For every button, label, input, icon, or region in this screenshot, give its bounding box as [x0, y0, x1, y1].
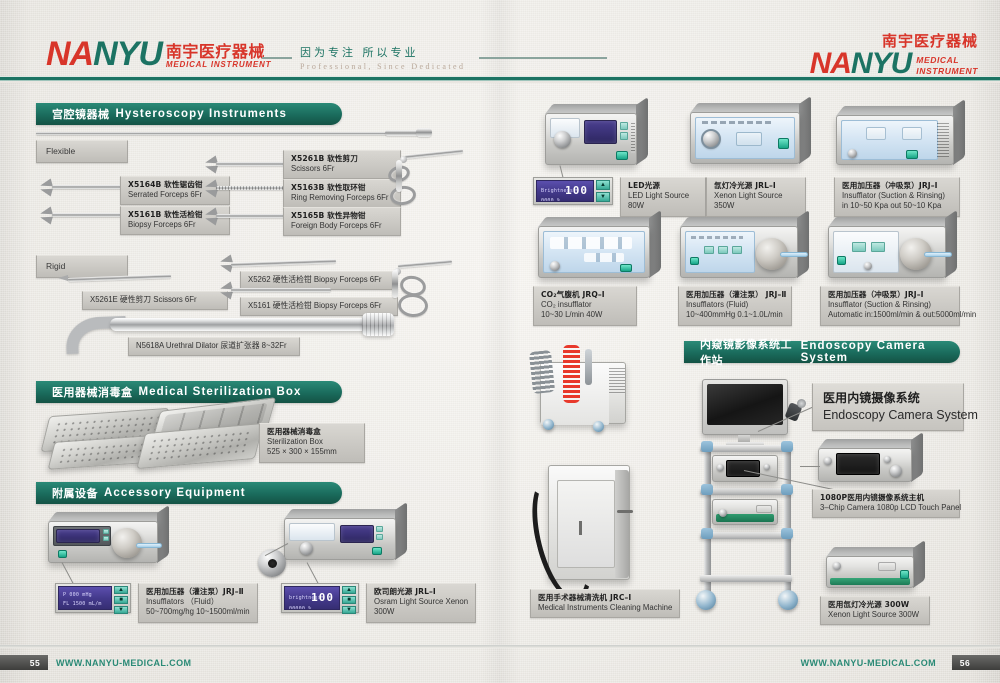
slogan-rule-left — [262, 57, 292, 59]
trolley-camera-control-unit — [712, 455, 778, 482]
display-panel-osram: brightness 100 00000 % ▲■▼ — [281, 583, 359, 613]
group-label-rigid: Rigid — [36, 255, 128, 278]
trolley-clamp-4 — [781, 484, 793, 495]
caption-ring-removing-forceps: X5163B 软性取环钳 Ring Removing Forceps 6Fr — [283, 179, 401, 208]
trolley-post-right — [784, 443, 791, 595]
device-led-light-source — [545, 113, 637, 165]
caption-xenon-light-source: 氙灯冷光源 JRL–Ⅰ Xenon Light Source 350W — [706, 177, 806, 217]
section-title-cn-2: 医用器械消毒盒 — [52, 384, 133, 400]
trolley-post-left — [704, 443, 711, 595]
brand-sub-right: MEDICAL INSTRUMENT — [916, 55, 978, 78]
footer-bar-left — [0, 655, 22, 670]
coil-hose-gray — [529, 350, 555, 394]
caption-scissors-flex: X5261B 软性剪刀 Scissors 6Fr — [283, 150, 401, 179]
trolley-light-source — [712, 499, 778, 525]
device-xenon-300w — [826, 556, 914, 588]
flexible-scope-connector — [416, 128, 432, 137]
page-number-right: 56 — [952, 655, 978, 670]
device-osram-light-source — [284, 518, 396, 560]
trolley-caster-right — [778, 590, 798, 610]
section-title-cn: 宫腔镜器械 — [52, 106, 110, 122]
device-insufflator-fluid — [48, 521, 158, 563]
page-number-left: 55 — [22, 655, 48, 670]
brand-logo-right: 南宇医疗器械 NANYU MEDICAL INSTRUMENT — [810, 34, 978, 78]
page-header: NANYU 南宇医疗器械 MEDICAL INSTRUMENT 因为专注 所以专… — [0, 0, 1000, 82]
slogan-rule-right — [479, 57, 607, 59]
footer-bar-right — [978, 655, 1000, 670]
caption-camera-ccu: 1080P医用内镜摄像系统主机 3–Chip Camera 1080p LCD … — [812, 489, 960, 518]
caption-xenon-300w: 医用氙灯冷光源 300W Xenon Light Source 300W — [820, 596, 930, 625]
section-header-sterilization: 医用器械消毒盒 Medical Sterilization Box — [36, 381, 342, 403]
brand-name-en: MEDICAL INSTRUMENT — [166, 60, 271, 69]
lcd-osram: brightness 100 00000 % — [284, 586, 340, 610]
endoscopy-trolley — [698, 385, 818, 615]
dilator-hub — [362, 313, 394, 336]
flexible-scope-shaft — [36, 132, 388, 135]
section-title-en-4: Endoscopy Camera System — [801, 340, 946, 364]
trolley-shelf-2 — [700, 488, 792, 495]
section-title-en-2: Medical Sterilization Box — [139, 386, 302, 398]
trolley-clamp-5 — [701, 528, 713, 539]
section-title-cn-4: 内窥镜影像系统工作站 — [700, 336, 795, 368]
section-header-accessory: 附属设备 Accessory Equipment — [36, 482, 342, 504]
caption-foreign-body-forceps: X5165B 软性异物钳 Foreign Body Forceps 6Fr — [283, 207, 401, 236]
brand-slogan: 因为专注 所以专业 Professional, Since Dedicated — [262, 44, 607, 71]
brand-name-cn: 南宇医疗器械 — [166, 44, 271, 61]
device-camera-ccu — [818, 448, 912, 482]
machine-handle — [617, 510, 633, 513]
dilator-body — [110, 318, 372, 331]
caption-insufflator-suction-rinsing-1: 医用加压器（冲吸泵）JRJ–Ⅰ Insufflator (Suction & R… — [834, 177, 960, 217]
lcd-keys-led[interactable]: ▲▼ — [596, 180, 610, 202]
caption-insufflator-fluid-2: 医用加压器（灌注泵） JRJ–Ⅱ Insufflators (Fluid) 10… — [678, 286, 792, 326]
section-title-cn-3: 附属设备 — [52, 485, 98, 501]
trolley-shelf-4 — [700, 575, 792, 582]
lcd-keys-insufflator[interactable]: ▲■▼ — [114, 586, 128, 610]
brand-wordmark: NANYU — [46, 38, 162, 70]
trolley-shelf-3 — [700, 532, 792, 539]
device-insufflator-suction-rinsing-1 — [836, 115, 954, 165]
trolley-clamp-6 — [781, 528, 793, 539]
caption-camera-system-main: 医用内镜摄像系统 Endoscopy Camera System — [812, 383, 964, 431]
page-footer: 55 WWW.NANYU-MEDICAL.COM WWW.NANYU-MEDIC… — [0, 643, 1000, 683]
trolley-shelf-1 — [700, 445, 792, 452]
caption-cleaning-machine: 医用手术器械清洗机 JRC–Ⅰ Medical Instruments Clea… — [530, 589, 680, 618]
footer-divider — [0, 645, 1000, 648]
display-panel-insufflator: P 000 mHg FL 1500 mL/m ▲■▼ — [55, 583, 131, 613]
caption-led-light-source: LED光源 LED Light Source 80W — [620, 177, 706, 217]
caption-insufflator-fluid: 医用加压器（灌注泵）JRJ–Ⅱ Insufflators （Fluid） 50~… — [138, 583, 258, 623]
device-insufflator-fluid-2 — [680, 226, 798, 278]
section-title-en-3: Accessory Equipment — [104, 487, 246, 499]
callout-line-ccu — [800, 466, 820, 467]
slogan-en: Professional, Since Dedicated — [300, 62, 465, 71]
brand-logo-left: NANYU 南宇医疗器械 MEDICAL INSTRUMENT — [46, 38, 271, 70]
coil-hose-red — [563, 345, 580, 403]
catalog-page: NANYU 南宇医疗器械 MEDICAL INSTRUMENT 因为专注 所以专… — [0, 0, 1000, 683]
caption-sterilization-box: 医用器械消毒盒 Sterilization Box 525 × 300 × 15… — [259, 423, 365, 463]
header-divider — [0, 76, 1000, 83]
caption-urethral-dilator: N5618A Urethral Dilator 尿道扩张器 8~32Fr — [128, 337, 300, 356]
slogan-cn: 因为专注 所以专业 — [300, 44, 465, 60]
device-insufflator-suction-rinsing-2 — [828, 226, 946, 278]
section-header-camera-system: 内窥镜影像系统工作站 Endoscopy Camera System — [684, 341, 960, 363]
caption-insufflator-suction-rinsing-2: 医用加压器（冲吸泵）JRJ–Ⅰ Insufflator (Suction & R… — [820, 286, 960, 326]
flexible-scope-hub — [385, 130, 419, 136]
spray-gun — [585, 349, 592, 385]
trolley-clamp-1 — [701, 441, 713, 452]
caption-co2-insufflator: CO₂气腹机 JRQ–Ⅰ CO₂ insufflator 10~30 L/min… — [533, 286, 637, 326]
section-title-en: Hysteroscopy Instruments — [116, 108, 287, 120]
display-panel-led: Brightness 100 0000 % ▲▼ — [533, 177, 613, 205]
lcd-led: Brightness 100 0000 % — [536, 180, 594, 202]
group-label-flexible: Flexible — [36, 140, 128, 163]
device-co2-insufflator — [538, 226, 650, 278]
section-header-hysteroscopy: 宫腔镜器械 Hysteroscopy Instruments — [36, 103, 342, 125]
sterilization-box-open — [142, 404, 272, 470]
brand-wordmark-right: NANYU — [810, 50, 912, 79]
caption-osram-light-source: 欧司朗光源 JRL–Ⅰ Osram Light Source Xenon 300… — [366, 583, 476, 623]
footer-website-right[interactable]: WWW.NANYU-MEDICAL.COM — [801, 658, 936, 668]
lcd-insufflator: P 000 mHg FL 1500 mL/m — [58, 586, 112, 610]
trolley-clamp-2 — [781, 441, 793, 452]
lcd-keys-osram[interactable]: ▲■▼ — [342, 586, 356, 610]
trolley-clamp-3 — [701, 484, 713, 495]
device-xenon-light-source — [690, 112, 800, 164]
trolley-caster-left — [696, 590, 716, 610]
trolley-monitor — [702, 379, 788, 435]
cleaning-machine-top — [540, 362, 626, 424]
footer-website-left[interactable]: WWW.NANYU-MEDICAL.COM — [56, 658, 191, 668]
